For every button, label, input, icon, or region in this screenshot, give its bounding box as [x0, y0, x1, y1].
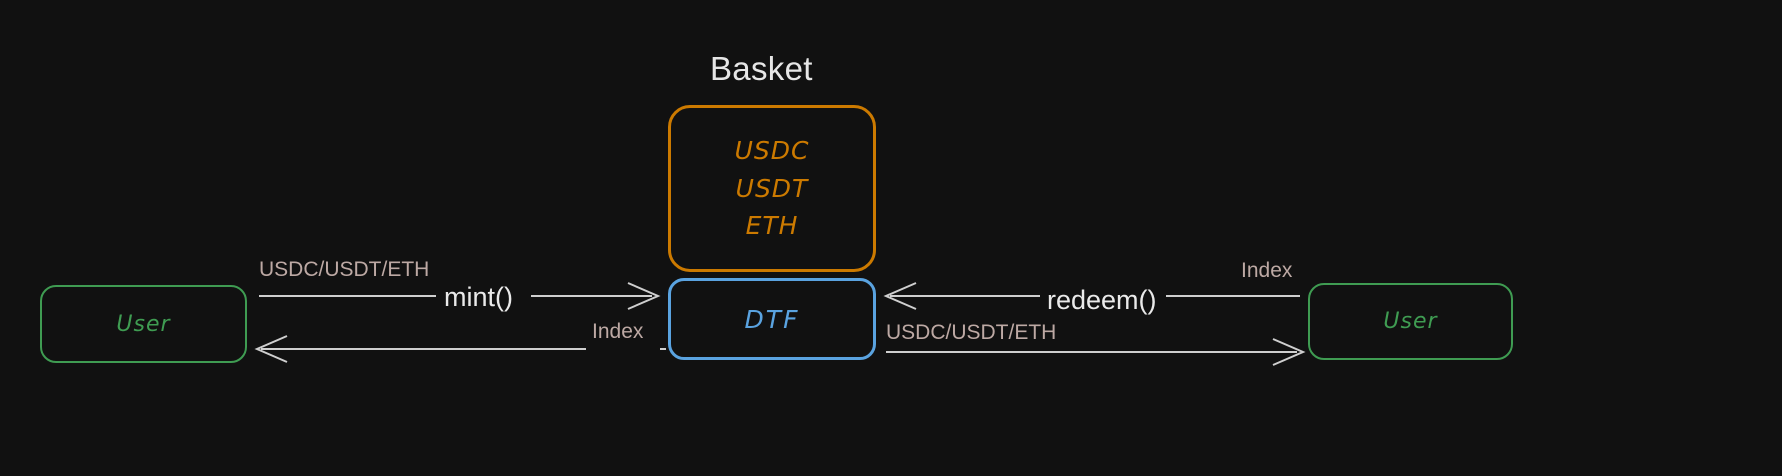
edge-label-redeem-tokens-out: USDC/USDT/ETH	[886, 321, 1056, 345]
user-label-left: User	[116, 312, 170, 337]
edge-label-redeem-call: redeem()	[1047, 285, 1157, 316]
basket-title: Basket	[710, 50, 813, 88]
basket-asset-usdt: USDT	[736, 171, 809, 207]
basket-asset-list: USDC USDT ETH	[735, 133, 810, 244]
arrowhead-index-left	[257, 336, 287, 362]
basket-asset-eth: ETH	[746, 208, 799, 244]
user-box-left[interactable]: User	[40, 285, 247, 363]
user-label-right: User	[1383, 309, 1437, 334]
dtf-label: DTF	[745, 305, 800, 334]
user-box-right[interactable]: User	[1308, 283, 1513, 360]
dtf-box[interactable]: DTF	[668, 278, 876, 360]
arrowhead-redeem-right	[1273, 339, 1303, 365]
edge-label-mint-index-out: Index	[592, 320, 643, 344]
diagram-canvas: Basket USDC/USDT/ETH mint() Index Index …	[0, 0, 1782, 476]
edge-label-redeem-index-in: Index	[1241, 259, 1292, 283]
edge-label-mint-call: mint()	[444, 282, 513, 313]
basket-box[interactable]: USDC USDT ETH	[668, 105, 876, 272]
connector-layer	[0, 0, 1782, 476]
arrowhead-redeem-left	[886, 283, 916, 309]
basket-asset-usdc: USDC	[735, 133, 810, 169]
arrowhead-mint-right	[628, 283, 658, 309]
edge-label-mint-tokens-in: USDC/USDT/ETH	[259, 258, 429, 282]
